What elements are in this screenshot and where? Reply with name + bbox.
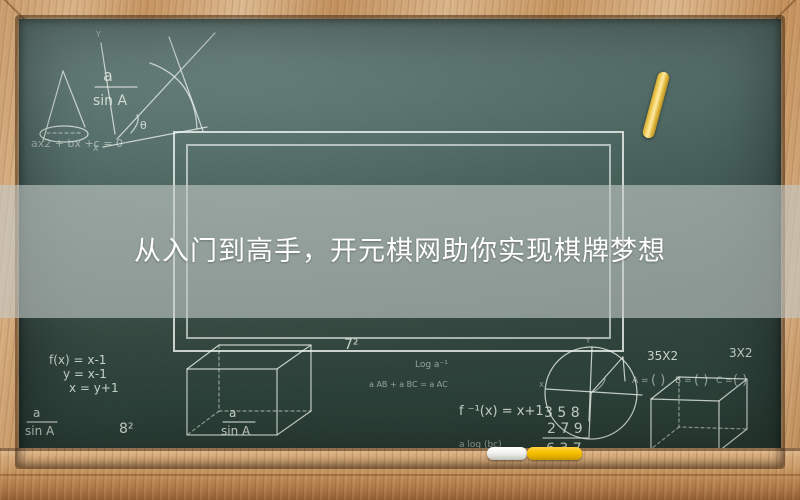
caption-headline: 从入门到高手，开元棋网助你实现棋牌梦想	[134, 238, 666, 265]
ledge-lip	[0, 448, 800, 451]
ledge-seam-line	[0, 474, 800, 476]
chalk-tray-ledge	[0, 448, 800, 500]
caption-band: 从入门到高手，开元棋网助你实现棋牌梦想	[0, 185, 800, 318]
banner-image: a sin A Y X θ ax2 + bx +c = 0	[0, 0, 800, 500]
yellow-chalk-stick	[527, 447, 582, 460]
white-chalk-stick	[487, 447, 527, 460]
